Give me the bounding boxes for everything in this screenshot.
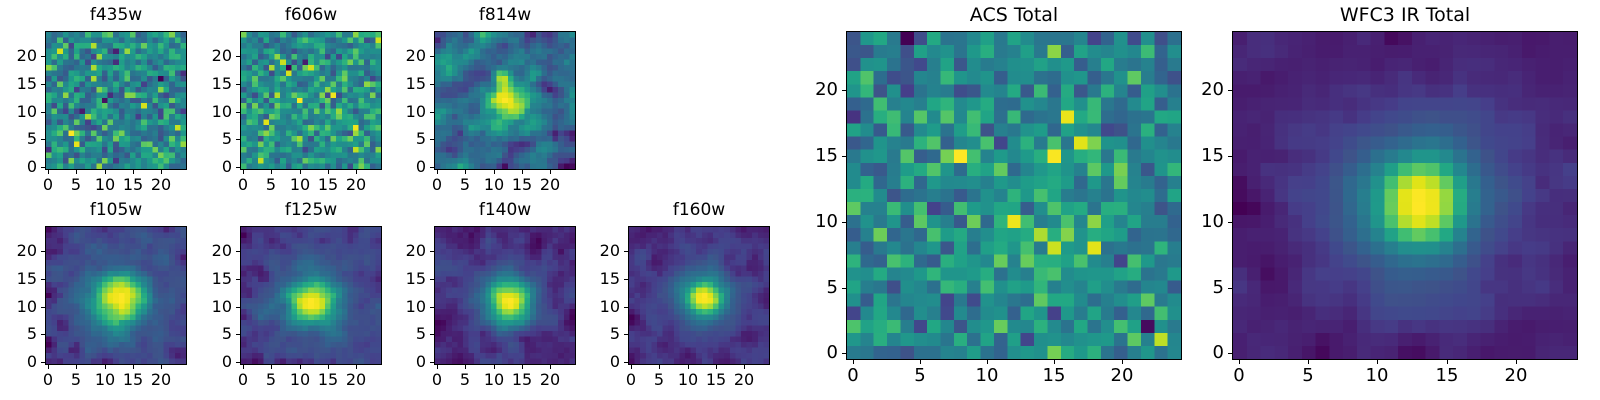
y-tick-mark: [430, 279, 434, 280]
y-tick-mark: [624, 251, 628, 252]
y-tick-label: 5: [790, 279, 838, 297]
x-tick-label: 15: [1436, 367, 1459, 385]
x-tick-label: 15: [512, 372, 532, 388]
heatmap-f814w: [434, 31, 576, 170]
figure-canvas: f435w0055101015152020f606w00551010151520…: [0, 0, 1600, 400]
panel-title-f125w: f125w: [240, 202, 382, 219]
y-tick-label: 20: [0, 243, 37, 259]
y-tick-mark: [41, 279, 45, 280]
y-tick-label: 0: [1176, 344, 1224, 362]
x-tick-label: 0: [626, 372, 636, 388]
y-tick-label: 20: [790, 81, 838, 99]
y-tick-label: 10: [184, 299, 232, 315]
y-tick-mark: [236, 307, 240, 308]
y-tick-mark: [842, 222, 846, 223]
y-tick-mark: [430, 334, 434, 335]
x-tick-label: 10: [290, 372, 310, 388]
x-tick-mark: [300, 170, 301, 174]
y-tick-label: 5: [0, 326, 37, 342]
y-tick-mark: [430, 251, 434, 252]
x-tick-mark: [631, 365, 632, 369]
y-tick-mark: [41, 84, 45, 85]
y-tick-label: 10: [378, 299, 426, 315]
heatmap-canvas-f105w: [46, 227, 186, 364]
x-tick-label: 10: [290, 177, 310, 193]
x-tick-label: 10: [95, 372, 115, 388]
x-tick-label: 0: [43, 372, 53, 388]
x-tick-label: 15: [318, 372, 338, 388]
x-tick-label: 5: [71, 177, 81, 193]
y-tick-mark: [624, 307, 628, 308]
x-tick-mark: [744, 365, 745, 369]
y-tick-label: 20: [0, 48, 37, 64]
x-tick-mark: [356, 365, 357, 369]
x-tick-mark: [105, 365, 106, 369]
y-tick-label: 10: [1176, 213, 1224, 231]
x-tick-label: 15: [1043, 367, 1066, 385]
x-tick-label: 0: [432, 372, 442, 388]
x-tick-mark: [161, 365, 162, 369]
x-tick-label: 0: [432, 177, 442, 193]
x-tick-label: 20: [346, 372, 366, 388]
x-tick-label: 20: [1111, 367, 1134, 385]
y-tick-mark: [430, 56, 434, 57]
x-tick-label: 10: [1366, 367, 1389, 385]
y-tick-label: 10: [378, 104, 426, 120]
x-tick-label: 5: [460, 177, 470, 193]
x-tick-mark: [465, 170, 466, 174]
x-tick-label: 20: [1505, 367, 1528, 385]
y-tick-label: 5: [184, 326, 232, 342]
x-tick-mark: [522, 365, 523, 369]
x-tick-label: 5: [1302, 367, 1313, 385]
x-tick-mark: [659, 365, 660, 369]
x-tick-label: 5: [654, 372, 664, 388]
y-tick-mark: [41, 112, 45, 113]
y-tick-label: 0: [790, 344, 838, 362]
heatmap-acs-total: [846, 31, 1182, 360]
heatmap-f435w: [45, 31, 187, 170]
x-tick-mark: [76, 365, 77, 369]
heatmap-canvas-f140w: [435, 227, 575, 364]
y-tick-mark: [236, 362, 240, 363]
x-tick-mark: [437, 365, 438, 369]
panel-title-f140w: f140w: [434, 202, 576, 219]
y-tick-mark: [842, 156, 846, 157]
x-tick-mark: [550, 365, 551, 369]
y-tick-label: 5: [0, 131, 37, 147]
y-tick-label: 10: [0, 299, 37, 315]
y-tick-mark: [430, 84, 434, 85]
x-tick-mark: [356, 170, 357, 174]
y-tick-label: 15: [184, 271, 232, 287]
x-tick-mark: [1377, 360, 1378, 364]
y-tick-mark: [624, 334, 628, 335]
x-tick-label: 0: [1233, 367, 1244, 385]
y-tick-mark: [624, 279, 628, 280]
heatmap-f606w: [240, 31, 382, 170]
x-tick-label: 5: [460, 372, 470, 388]
x-tick-label: 10: [976, 367, 999, 385]
panel-title-f435w: f435w: [45, 7, 187, 24]
x-tick-mark: [1308, 360, 1309, 364]
x-tick-label: 20: [540, 372, 560, 388]
x-tick-mark: [133, 365, 134, 369]
x-tick-mark: [161, 170, 162, 174]
y-tick-label: 15: [378, 76, 426, 92]
x-tick-label: 0: [238, 177, 248, 193]
x-tick-label: 15: [123, 177, 143, 193]
x-tick-label: 0: [238, 372, 248, 388]
y-tick-mark: [1228, 353, 1232, 354]
y-tick-mark: [236, 251, 240, 252]
x-tick-mark: [300, 365, 301, 369]
heatmap-canvas-wfc3-ir-total: [1233, 32, 1577, 359]
x-tick-mark: [1054, 360, 1055, 364]
x-tick-mark: [465, 365, 466, 369]
x-tick-label: 5: [71, 372, 81, 388]
x-tick-mark: [271, 170, 272, 174]
y-tick-label: 5: [1176, 279, 1224, 297]
x-tick-label: 20: [734, 372, 754, 388]
y-tick-mark: [236, 279, 240, 280]
y-tick-mark: [1228, 156, 1232, 157]
panel-title-wfc3-ir-total: WFC3 IR Total: [1232, 6, 1578, 25]
y-tick-mark: [41, 167, 45, 168]
x-tick-mark: [688, 365, 689, 369]
y-tick-mark: [1228, 222, 1232, 223]
y-tick-mark: [236, 167, 240, 168]
x-tick-mark: [1122, 360, 1123, 364]
x-tick-mark: [133, 170, 134, 174]
y-tick-mark: [842, 90, 846, 91]
y-tick-mark: [41, 56, 45, 57]
x-tick-label: 0: [43, 177, 53, 193]
x-tick-label: 20: [346, 177, 366, 193]
x-tick-mark: [716, 365, 717, 369]
y-tick-label: 0: [0, 354, 37, 370]
y-tick-label: 0: [0, 159, 37, 175]
y-tick-mark: [236, 84, 240, 85]
y-tick-mark: [41, 362, 45, 363]
y-tick-mark: [236, 334, 240, 335]
panel-title-acs-total: ACS Total: [846, 6, 1182, 25]
x-tick-label: 15: [318, 177, 338, 193]
x-tick-mark: [522, 170, 523, 174]
y-tick-label: 10: [572, 299, 620, 315]
heatmap-canvas-f435w: [46, 32, 186, 169]
x-tick-label: 15: [706, 372, 726, 388]
y-tick-mark: [236, 112, 240, 113]
y-tick-label: 0: [572, 354, 620, 370]
heatmap-canvas-f160w: [629, 227, 769, 364]
heatmap-canvas-acs-total: [847, 32, 1181, 359]
y-tick-label: 15: [790, 147, 838, 165]
y-tick-mark: [236, 56, 240, 57]
y-tick-mark: [624, 362, 628, 363]
heatmap-canvas-f125w: [241, 227, 381, 364]
y-tick-label: 0: [378, 354, 426, 370]
heatmap-f160w: [628, 226, 770, 365]
y-tick-label: 20: [1176, 81, 1224, 99]
x-tick-label: 10: [95, 177, 115, 193]
x-tick-mark: [243, 170, 244, 174]
x-tick-mark: [987, 360, 988, 364]
y-tick-label: 15: [1176, 147, 1224, 165]
y-tick-mark: [842, 353, 846, 354]
y-tick-label: 15: [0, 76, 37, 92]
heatmap-wfc3-ir-total: [1232, 31, 1578, 360]
y-tick-mark: [430, 307, 434, 308]
x-tick-mark: [271, 365, 272, 369]
y-tick-label: 10: [0, 104, 37, 120]
x-tick-mark: [105, 170, 106, 174]
panel-title-f606w: f606w: [240, 7, 382, 24]
y-tick-label: 10: [184, 104, 232, 120]
y-tick-label: 15: [0, 271, 37, 287]
x-tick-label: 20: [151, 372, 171, 388]
x-tick-mark: [48, 170, 49, 174]
heatmap-canvas-f606w: [241, 32, 381, 169]
y-tick-mark: [41, 139, 45, 140]
y-tick-label: 5: [184, 131, 232, 147]
y-tick-label: 0: [184, 159, 232, 175]
y-tick-mark: [41, 307, 45, 308]
y-tick-label: 5: [572, 326, 620, 342]
y-tick-label: 15: [184, 76, 232, 92]
heatmap-f140w: [434, 226, 576, 365]
x-tick-mark: [1239, 360, 1240, 364]
y-tick-label: 20: [378, 243, 426, 259]
x-tick-label: 20: [151, 177, 171, 193]
y-tick-label: 20: [184, 48, 232, 64]
x-tick-mark: [494, 365, 495, 369]
y-tick-label: 0: [378, 159, 426, 175]
y-tick-mark: [430, 112, 434, 113]
y-tick-label: 20: [378, 48, 426, 64]
x-tick-label: 20: [540, 177, 560, 193]
x-tick-label: 10: [678, 372, 698, 388]
y-tick-mark: [430, 167, 434, 168]
heatmap-f125w: [240, 226, 382, 365]
x-tick-mark: [853, 360, 854, 364]
y-tick-label: 5: [378, 131, 426, 147]
x-tick-label: 10: [484, 177, 504, 193]
y-tick-label: 20: [572, 243, 620, 259]
x-tick-mark: [920, 360, 921, 364]
y-tick-mark: [430, 139, 434, 140]
x-tick-mark: [1516, 360, 1517, 364]
y-tick-mark: [236, 139, 240, 140]
x-tick-label: 5: [266, 177, 276, 193]
x-tick-label: 5: [914, 367, 925, 385]
heatmap-canvas-f814w: [435, 32, 575, 169]
x-tick-mark: [76, 170, 77, 174]
x-tick-label: 0: [847, 367, 858, 385]
y-tick-mark: [1228, 90, 1232, 91]
panel-title-f105w: f105w: [45, 202, 187, 219]
x-tick-mark: [437, 170, 438, 174]
x-tick-label: 10: [484, 372, 504, 388]
panel-f814w: f814w0055101015152020: [374, 5, 636, 204]
panel-title-f814w: f814w: [434, 7, 576, 24]
y-tick-label: 5: [378, 326, 426, 342]
x-tick-mark: [328, 170, 329, 174]
x-tick-label: 15: [123, 372, 143, 388]
x-tick-mark: [1447, 360, 1448, 364]
x-tick-label: 5: [266, 372, 276, 388]
y-tick-mark: [41, 334, 45, 335]
y-tick-label: 10: [790, 213, 838, 231]
heatmap-f105w: [45, 226, 187, 365]
y-tick-mark: [1228, 288, 1232, 289]
x-tick-mark: [550, 170, 551, 174]
panel-title-f160w: f160w: [628, 202, 770, 219]
x-tick-label: 15: [512, 177, 532, 193]
x-tick-mark: [328, 365, 329, 369]
x-tick-mark: [494, 170, 495, 174]
x-tick-mark: [243, 365, 244, 369]
y-tick-label: 20: [184, 243, 232, 259]
y-tick-mark: [41, 251, 45, 252]
panel-wfc3-ir-total: WFC3 IR Total0055101015152020: [1172, 5, 1600, 394]
y-tick-label: 15: [378, 271, 426, 287]
y-tick-label: 15: [572, 271, 620, 287]
x-tick-mark: [48, 365, 49, 369]
y-tick-mark: [430, 362, 434, 363]
y-tick-mark: [842, 288, 846, 289]
y-tick-label: 0: [184, 354, 232, 370]
